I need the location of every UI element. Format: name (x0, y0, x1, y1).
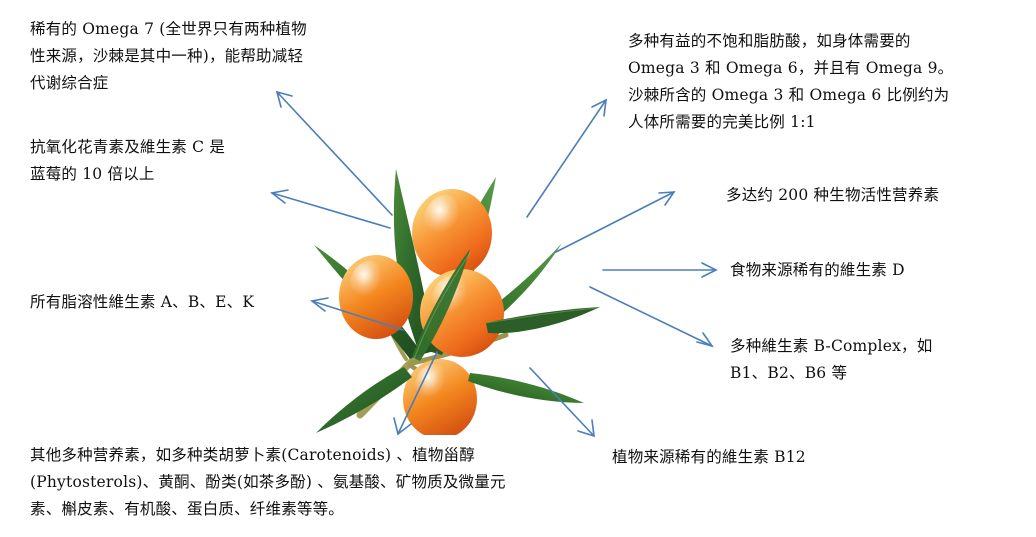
arrow-to-unsaturated (527, 100, 606, 217)
arrow-to-vitamin-d (603, 263, 716, 277)
label-other-nutrients: 其他多种营养素，如多种类胡萝卜素(Carotenoids) 、植物甾醇 (Phy… (30, 442, 590, 523)
label-vitamin-d: 食物来源稀有的維生素 D (730, 257, 1030, 284)
label-fat-soluble: 所有脂溶性維生素 A、B、E、K (30, 289, 360, 316)
label-omega7: 稀有的 Omega 7 (全世界只有两种植物 性来源，沙棘是其中一种)，能帮助减… (30, 16, 360, 97)
label-unsaturated: 多种有益的不饱和脂肪酸，如身体需要的 Omega 3 和 Omega 6，并且有… (628, 28, 1028, 136)
label-antioxidant: 抗氧化花青素及維生素 C 是 蓝莓的 10 倍以上 (30, 134, 330, 188)
label-b-complex: 多种維生素 B-Complex，如 B1、B2、B6 等 (730, 333, 1020, 387)
arrow-to-bioactive-200 (556, 192, 674, 252)
infographic-canvas: 稀有的 Omega 7 (全世界只有两种植物 性来源，沙棘是其中一种)，能帮助减… (0, 0, 1036, 537)
label-bioactive-200: 多达约 200 种生物活性营养素 (726, 182, 1026, 209)
arrow-to-vitamin-b12 (530, 368, 594, 436)
label-vitamin-b12: 植物来源稀有的維生素 B12 (612, 444, 942, 471)
arrow-to-other-nutrients (394, 352, 437, 434)
arrow-to-b-complex (590, 287, 712, 346)
arrow-to-antioxidant (272, 190, 390, 228)
